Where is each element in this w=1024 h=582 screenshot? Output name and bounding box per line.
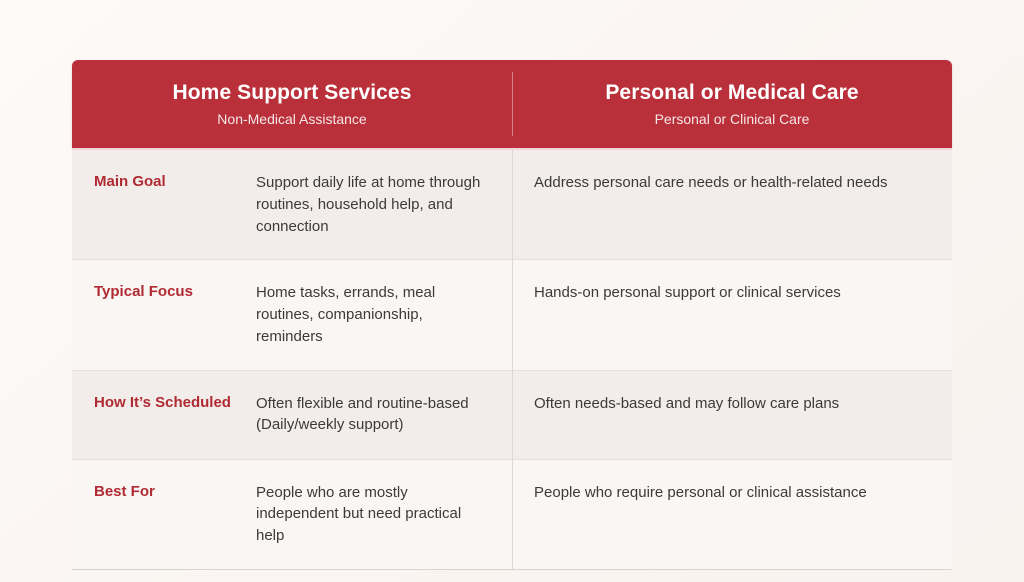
page-background: Home Support Services Non-Medical Assist… [0,0,1024,582]
cell-text-right: Often needs-based and may follow care pl… [534,393,926,415]
cell-text-left: Often flexible and routine-based (Daily/… [256,393,486,437]
table-cell-left: Best For People who are mostly independe… [72,460,512,569]
header-title-left: Home Support Services [172,81,411,105]
row-label-how-its-scheduled: How It’s Scheduled [94,393,256,437]
table-cell-left: Main Goal Support daily life at home thr… [72,150,512,259]
cell-text-left: Home tasks, errands, meal routines, comp… [256,282,486,347]
table-body: Main Goal Support daily life at home thr… [72,148,952,570]
table-cell-left: Typical Focus Home tasks, errands, meal … [72,260,512,369]
row-label-typical-focus: Typical Focus [94,282,256,347]
cell-text-left: Support daily life at home through routi… [256,172,486,237]
table-cell-left: How It’s Scheduled Often flexible and ro… [72,371,512,459]
cell-text-right: Address personal care needs or health-re… [534,172,926,194]
header-subtitle-right: Personal or Clinical Care [655,111,810,127]
row-label-best-for: Best For [94,482,256,547]
cell-text-right: Hands-on personal support or clinical se… [534,282,926,304]
cell-text-right: People who require personal or clinical … [534,482,926,504]
table-cell-right: People who require personal or clinical … [512,460,952,569]
table-cell-right: Address personal care needs or health-re… [512,150,952,259]
table-header-row: Home Support Services Non-Medical Assist… [72,60,952,148]
table-cell-right: Hands-on personal support or clinical se… [512,260,952,369]
header-cell-personal-or-medical-care: Personal or Medical Care Personal or Cli… [512,60,952,148]
cell-text-left: People who are mostly independent but ne… [256,482,486,547]
header-subtitle-left: Non-Medical Assistance [217,111,366,127]
comparison-table: Home Support Services Non-Medical Assist… [72,60,952,570]
header-cell-home-support-services: Home Support Services Non-Medical Assist… [72,60,512,148]
table-cell-right: Often needs-based and may follow care pl… [512,371,952,459]
header-title-right: Personal or Medical Care [605,81,858,105]
body-column-divider [512,150,513,570]
row-label-main-goal: Main Goal [94,172,256,237]
